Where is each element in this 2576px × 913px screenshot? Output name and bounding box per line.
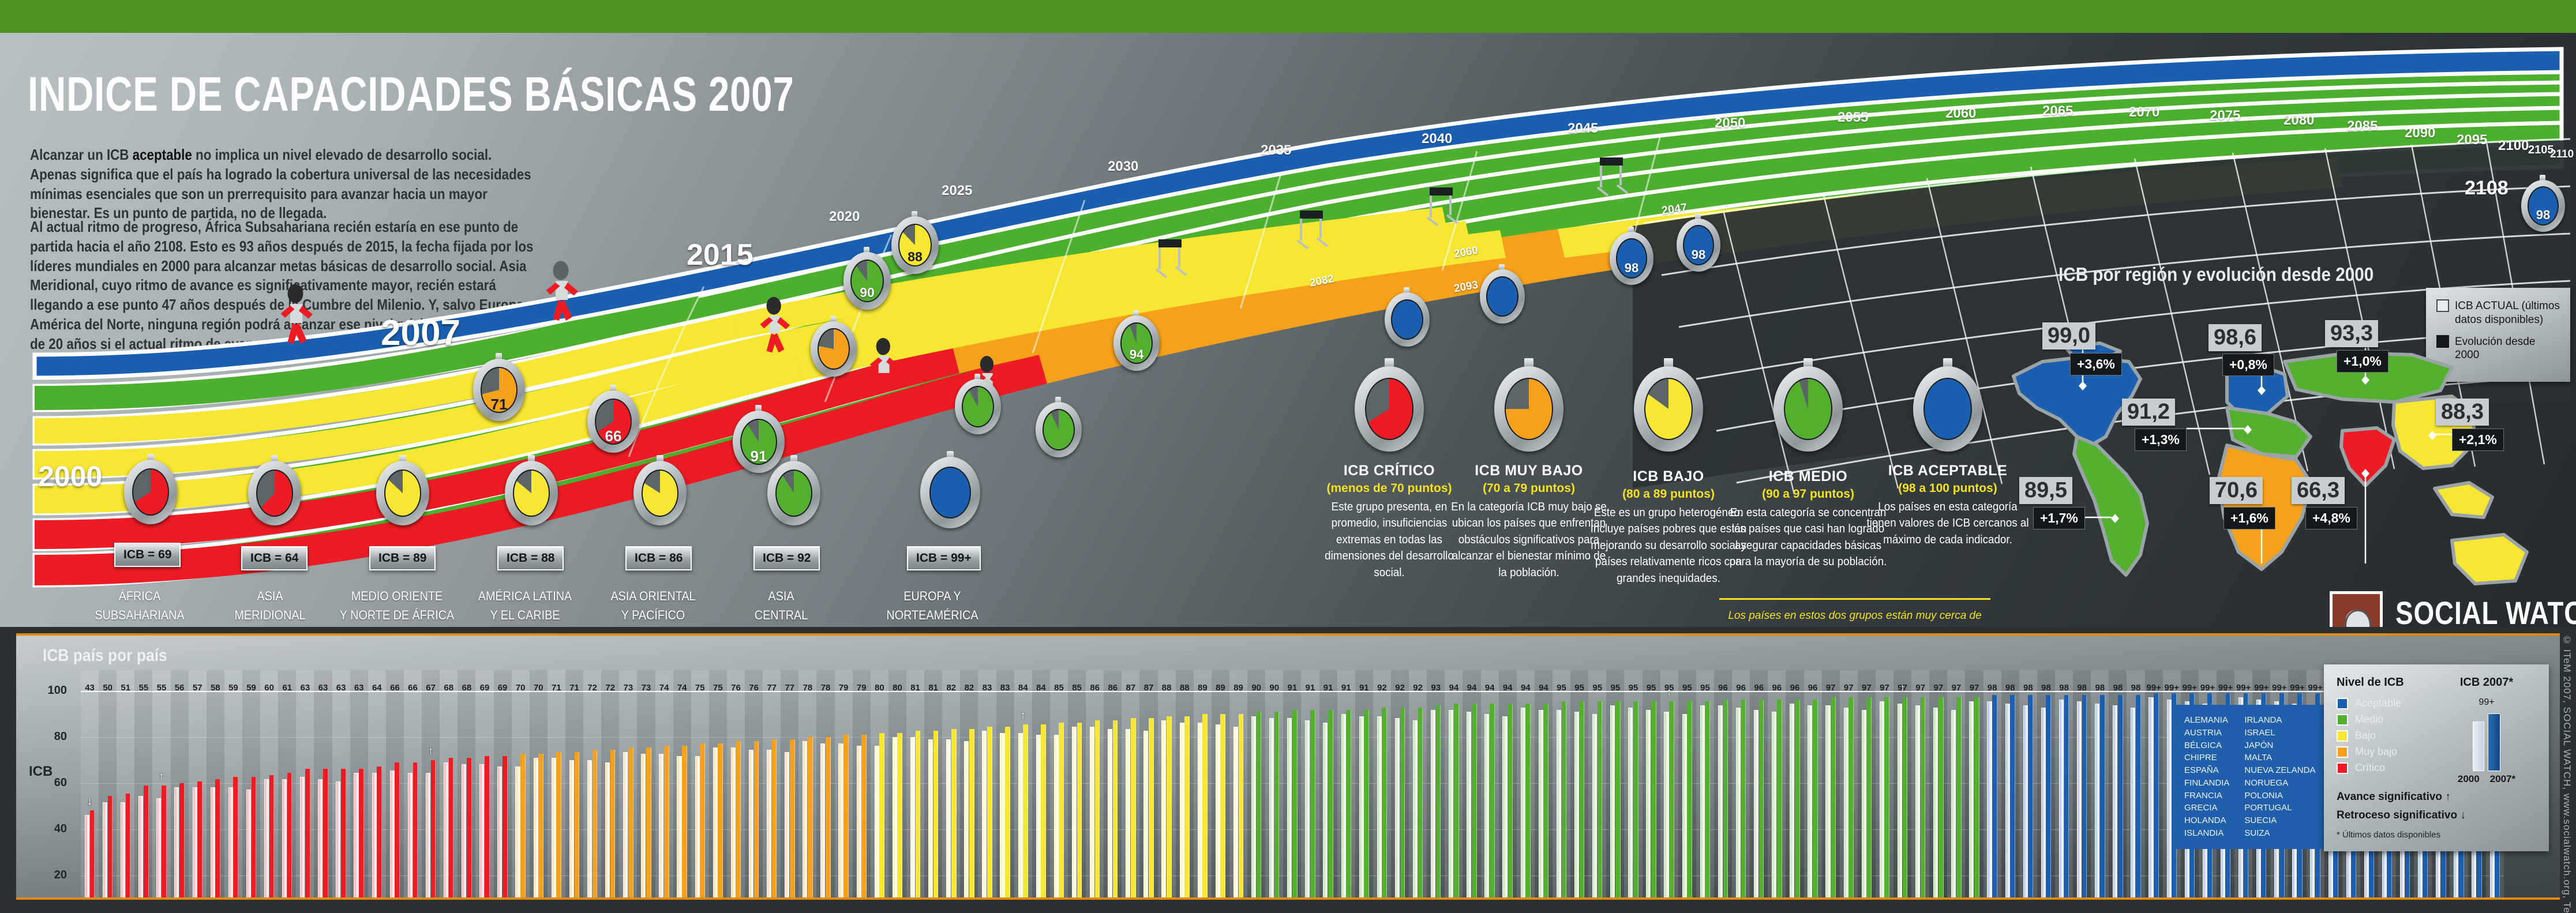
- bar-value-label: 80: [871, 683, 888, 693]
- gauge-face: [818, 328, 850, 370]
- bar-value-label: 97: [1876, 683, 1893, 693]
- bar-2007: [1633, 701, 1638, 900]
- bar-value-label: 99+: [2163, 683, 2181, 693]
- bar-group: 87: [1122, 670, 1139, 900]
- bar-value-label: 61: [278, 683, 296, 693]
- bar-group: 77: [763, 670, 781, 900]
- track-year-2090: 2090: [2405, 125, 2435, 141]
- bar-2000: [534, 758, 538, 900]
- bar-value-label: 77: [763, 683, 781, 693]
- bar-group: 82: [942, 670, 960, 900]
- bar-2007: [1903, 697, 1908, 900]
- bar-2007: [1131, 718, 1136, 900]
- map-sea-islands: [2435, 483, 2492, 517]
- bar-group: 97: [1840, 670, 1858, 900]
- country-name: SUIZA: [2244, 827, 2315, 840]
- bar-2000: [1018, 733, 1023, 900]
- bar-2007: [575, 752, 580, 900]
- gauge-track-91: 91: [733, 411, 785, 473]
- bar-2000: [731, 747, 736, 900]
- bar-value-label: 82: [942, 683, 960, 693]
- bar-2007: [2010, 695, 2015, 900]
- bar-group: 83: [996, 670, 1014, 900]
- country-name: GRECIA: [2184, 802, 2229, 814]
- track-year-2070: 2070: [2129, 104, 2159, 121]
- y-tick-80: 80: [39, 730, 67, 743]
- bar-2007: [1454, 704, 1459, 900]
- category-gauge-medio: [1773, 366, 1843, 452]
- bar-group: 95↑: [1660, 670, 1678, 900]
- bar-2000: [767, 750, 771, 900]
- bar-2000: [838, 743, 843, 900]
- bar-group: 90: [1247, 670, 1265, 900]
- gauge-value: 90: [843, 285, 891, 300]
- logo-name: SOCIAL WATCH: [2395, 594, 2576, 628]
- bar-value-label: 86: [1104, 683, 1122, 693]
- country-name: PORTUGAL: [2244, 802, 2315, 814]
- bar-value-label: 88: [1176, 683, 1194, 693]
- bar-2000: [1431, 710, 1435, 900]
- bar-2007: [179, 783, 185, 900]
- country-name: NORUEGA: [2244, 777, 2315, 790]
- legend-swatch-aceptable: [2337, 698, 2348, 709]
- bar-value-label: 67: [422, 683, 440, 693]
- bar-2007: [1364, 710, 1369, 900]
- bar-group: 61: [278, 670, 296, 900]
- bar-group: 63: [314, 670, 332, 900]
- bar-value-label: 95: [1606, 683, 1624, 693]
- bar-value-label: 95: [1678, 683, 1696, 693]
- bar-group: 98: [2109, 670, 2127, 900]
- bar-2000: [372, 773, 377, 900]
- bar-2007: [431, 760, 436, 900]
- bar-2007: [1669, 701, 1674, 900]
- bar-value-label: 98: [2091, 683, 2109, 693]
- bar-group: 74: [655, 670, 673, 900]
- bar-group: 91: [1319, 670, 1337, 900]
- bar-2007: [1095, 720, 1100, 900]
- bar-2000: [1574, 712, 1579, 900]
- bar-2000: [982, 731, 987, 900]
- country-name: CHIPRE: [2184, 752, 2229, 764]
- bar-2007: [826, 737, 831, 900]
- bar-value-label: 97: [1929, 683, 1947, 693]
- bar-2007: [1921, 697, 1926, 900]
- legend-swatch-medio: [2337, 714, 2348, 726]
- bar-group: 69: [475, 670, 493, 900]
- track-year-2035: 2035: [1261, 142, 1291, 159]
- bar-value-label: 90: [1247, 683, 1265, 693]
- gauge-track-88: 88: [891, 216, 939, 274]
- bar-2000: [785, 752, 789, 900]
- bar-value-label: 94: [1481, 683, 1499, 693]
- bar-value-label: 75: [709, 683, 727, 693]
- bar-2007: [341, 769, 346, 900]
- map-value-norteamerica: 99,0: [2042, 322, 2095, 350]
- bar-2000: [803, 741, 807, 900]
- gauge-value: 98: [2521, 208, 2565, 223]
- bar-value-label: 96: [1786, 683, 1803, 693]
- bar-2000: [1754, 710, 1758, 900]
- bar-2000: [1628, 708, 1633, 900]
- category-gauge-critico: [1355, 366, 1424, 452]
- bar-value-label: 79: [835, 683, 853, 693]
- bar-value-label: 84: [1014, 683, 1032, 693]
- bar-group: 70: [530, 670, 548, 900]
- bar-group: 85: [1068, 670, 1086, 900]
- bar-2007: [2100, 695, 2105, 900]
- track-year-2085: 2085: [2347, 118, 2378, 134]
- bar-2007: [1202, 714, 1208, 900]
- bar-group: 97: [1965, 670, 1983, 900]
- bar-group: 64: [368, 670, 386, 900]
- gauge-value: 91: [733, 448, 785, 465]
- gauge-value: 98: [1610, 261, 1653, 276]
- bar-2000: [1359, 716, 1364, 900]
- bar-value-label: 92: [1373, 683, 1391, 693]
- bar-group: 79: [835, 670, 853, 900]
- bar-value-label: 50: [99, 683, 117, 693]
- bar-value-label: 81: [906, 683, 924, 693]
- bar-2000: [300, 777, 305, 900]
- bar-group: 97: [1947, 670, 1965, 900]
- bar-value-label: 59: [242, 683, 260, 693]
- bar-2007: [1328, 710, 1333, 900]
- bar-value-label: 63: [350, 683, 368, 693]
- bar-group: 91: [1301, 670, 1319, 900]
- bar-2007: [2046, 695, 2051, 900]
- bar-2000: [623, 752, 628, 900]
- top-countries-box: ALEMANIAAUSTRIABÉLGICACHIPREESPAÑAFINLAN…: [2174, 705, 2341, 849]
- bar-value-label: 98: [2019, 683, 2037, 693]
- bar-group: 93: [1427, 670, 1445, 900]
- bar-value-label: 78: [816, 683, 834, 693]
- bar-value-label: 90: [1265, 683, 1283, 693]
- country-name: MALTA: [2244, 752, 2315, 764]
- bar-group: 87: [1139, 670, 1157, 900]
- bar-group: 95: [1678, 670, 1696, 900]
- bar-group: 98: [2127, 670, 2144, 900]
- bar-2000: [444, 762, 448, 900]
- bar-2007: [323, 769, 328, 900]
- bar-2000: [1772, 712, 1776, 900]
- bar-2000: [695, 756, 700, 900]
- bar-2007: [1687, 701, 1692, 900]
- bar-2000: [1736, 708, 1741, 900]
- bar-value-label: 99+: [2234, 683, 2252, 693]
- bar-2007: [1974, 697, 1979, 900]
- region-chip-africa-subsahariana: ICB = 69: [114, 543, 181, 567]
- bar-value-label: 99+: [2217, 683, 2234, 693]
- bar-2007: [485, 756, 490, 900]
- bottom-chart-legend: Nivel de ICB Aceptable Medio Bajo: [2324, 664, 2549, 851]
- bar-2007: [197, 782, 203, 900]
- bottom-chart-title: ICB país por país: [43, 646, 167, 666]
- bar-2007: [215, 779, 220, 900]
- bar-group: 95: [1553, 670, 1570, 900]
- bar-group: 84: [1032, 670, 1050, 900]
- bar-2000: [1467, 712, 1471, 900]
- bar-value-label: 98: [2127, 683, 2144, 693]
- bar-2000: [497, 767, 502, 900]
- bar-2000: [228, 787, 233, 900]
- bar-2007: [987, 727, 992, 900]
- bar-value-label: 72: [583, 683, 601, 693]
- track-year-2075: 2075: [2210, 108, 2240, 124]
- bar-2007: [1866, 697, 1872, 900]
- bar-2000: [1054, 735, 1059, 900]
- pocket-watch-icon: [2330, 591, 2383, 627]
- bar-2007: [1562, 701, 1567, 900]
- bar-2007: [1525, 704, 1531, 900]
- bar-group: 99+: [2145, 670, 2163, 900]
- bar-group: 75: [709, 670, 727, 900]
- bar-2007: [2118, 695, 2123, 900]
- gauge-face: [132, 468, 169, 516]
- bar-2007: [162, 786, 167, 900]
- gauge-face: [1486, 276, 1518, 317]
- legend-level-aceptable: Aceptable: [2337, 697, 2423, 709]
- bar-group: 72: [583, 670, 601, 900]
- bar-2007: [1005, 727, 1010, 900]
- bar-2000: [2059, 700, 2064, 900]
- map-region-asia-meridional: [2341, 428, 2394, 486]
- bar-2007: [933, 731, 939, 900]
- legend-swatch-bajo: [2337, 730, 2348, 742]
- bar-value-label: 91: [1337, 683, 1355, 693]
- bar-2000: [2077, 701, 2082, 900]
- bar-group: 91: [1337, 670, 1355, 900]
- gauge-track-90: 90: [843, 252, 891, 310]
- bar-value-label: 98: [1983, 683, 2001, 693]
- bar-value-label: 59: [224, 683, 242, 693]
- map-evolution-africa-subsahariana: +1,6%: [2223, 507, 2275, 529]
- track-year-2060: 2060: [1945, 106, 1976, 122]
- gauge-face: [1923, 378, 1972, 440]
- bar-2007: [503, 756, 508, 900]
- bar-2007: [646, 747, 651, 900]
- gauge-track-71: 71: [473, 359, 525, 421]
- bar-2007: [1149, 718, 1154, 900]
- bar-2007: [664, 746, 669, 900]
- bar-2007: [1615, 701, 1621, 900]
- bar-group: 98: [2001, 670, 2019, 900]
- legend-setback: Retroceso significativo ↓: [2337, 809, 2536, 822]
- bar-2007: [1543, 704, 1548, 900]
- bar-value-label: 88: [1158, 683, 1176, 693]
- bar-group: 95: [1696, 670, 1714, 900]
- top-countries-column-1: ALEMANIAAUSTRIABÉLGICACHIPREESPAÑAFINLAN…: [2184, 714, 2229, 840]
- bar-2000: [193, 787, 197, 900]
- bar-group: 67↑: [422, 670, 440, 900]
- bar-value-label: 97: [1840, 683, 1858, 693]
- bar-2000: [462, 764, 466, 900]
- map-value-europa: 98,6: [2208, 324, 2262, 351]
- bar-2000: [174, 787, 179, 900]
- bar-2000: [928, 739, 933, 900]
- bar-group: 98: [2091, 670, 2109, 900]
- bar-2000: [1251, 716, 1256, 900]
- bar-2000: [2095, 704, 2099, 900]
- bar-value-label: 97: [1858, 683, 1876, 693]
- bar-2000: [138, 796, 143, 900]
- bar-group: 96: [1768, 670, 1786, 900]
- bar-2007: [1884, 697, 1889, 900]
- bar-group: 95: [1588, 670, 1606, 900]
- bar-group: 71: [565, 670, 583, 900]
- legend-level-muy-bajo: Muy bajo: [2337, 746, 2423, 758]
- bar-2007: [2154, 693, 2159, 900]
- bar-value-label: 71: [565, 683, 583, 693]
- top-accent-bar: [0, 0, 2576, 33]
- bar-2000: [1646, 710, 1651, 900]
- track-year-2055: 2055: [1838, 110, 1868, 126]
- bar-2007: [1220, 714, 1225, 900]
- bar-value-label: 96: [1732, 683, 1750, 693]
- region-label-line2: CENTRAL: [703, 606, 859, 625]
- bar-2000: [1161, 720, 1166, 900]
- bar-group: 98: [2055, 670, 2073, 900]
- legend-swatch-muy-bajo: [2337, 746, 2348, 758]
- bar-2007: [808, 737, 813, 900]
- bar-group: 98: [2073, 670, 2091, 900]
- bar-group: 66: [386, 670, 404, 900]
- map-evolution-asia-meridional: +4,8%: [2305, 507, 2357, 529]
- gauge-track-98-b: [1385, 292, 1430, 347]
- bar-2000: [1987, 701, 1992, 900]
- bar-2007: [413, 762, 418, 900]
- track-year-2020: 2020: [829, 209, 860, 225]
- bar-group: 68: [458, 670, 475, 900]
- gauge-track-extra-1: [811, 321, 857, 377]
- gauge-track-98-d: 98: [1677, 219, 1720, 272]
- bar-2000: [1395, 718, 1400, 900]
- bar-value-label: 95: [1643, 683, 1660, 693]
- gauge-track-extra-2: [955, 379, 1001, 434]
- bar-group: 88: [1158, 670, 1176, 900]
- bar-group: 98: [2019, 670, 2037, 900]
- gauge-face: [1505, 378, 1553, 440]
- bar-2000: [1143, 731, 1148, 900]
- legend-swatch-critico: [2337, 762, 2348, 774]
- category-gauge-muy-bajo: [1494, 366, 1563, 452]
- bar-value-label: 81: [924, 683, 942, 693]
- legend-label-critico: Crítico: [2355, 762, 2385, 774]
- region-label-line1: EUROPA Y: [854, 587, 1010, 606]
- bar-2000: [820, 743, 825, 900]
- bar-group: 97: [1822, 670, 1840, 900]
- bar-group: 97: [1876, 670, 1893, 900]
- bar-2000: [1180, 723, 1184, 900]
- bar-2000: [552, 758, 556, 900]
- bar-2007: [1580, 701, 1585, 900]
- bar-group: 69: [494, 670, 512, 900]
- bar-value-label: 70: [530, 683, 548, 693]
- bar-group: 97: [1858, 670, 1876, 900]
- bar-value-label: 99+: [2307, 683, 2324, 693]
- bar-2000: [1844, 708, 1848, 900]
- gauge-track-98-a: [1480, 269, 1525, 324]
- bar-2007: [1651, 701, 1656, 900]
- bar-2000: [1413, 720, 1418, 900]
- bar-2000: [211, 787, 215, 900]
- bar-2007: [1167, 716, 1172, 900]
- map-value-medio-oriente: 91,2: [2122, 399, 2175, 426]
- bar-2007: [1310, 710, 1315, 900]
- country-name: BÉLGICA: [2184, 739, 2229, 752]
- bar-value-label: 99+: [2181, 683, 2199, 693]
- bar-value-label: 91: [1319, 683, 1337, 693]
- bar-value-label: 97: [1947, 683, 1965, 693]
- bar-group: 74: [673, 670, 691, 900]
- gauge-2000-medio-oriente: [376, 461, 429, 525]
- bar-value-label: 99+: [2288, 683, 2306, 693]
- bar-2007: [1598, 701, 1603, 900]
- bar-group: 68: [440, 670, 458, 900]
- bar-2007: [269, 775, 275, 900]
- track-year-2110: 2110: [2550, 148, 2574, 161]
- bar-2000: [318, 779, 323, 900]
- gauge-face: [1784, 378, 1832, 440]
- bar-value-label: 76: [727, 683, 745, 693]
- bar-value-label: 77: [781, 683, 798, 693]
- bar-value-label: 64: [368, 683, 386, 693]
- bar-2007: [2028, 695, 2033, 900]
- bar-value-label: 98: [2055, 683, 2073, 693]
- bar-value-label: 94: [1499, 683, 1517, 693]
- gauge-track-66: 66: [587, 390, 639, 453]
- bar-2007: [1257, 712, 1262, 900]
- bar-2000: [1216, 724, 1220, 900]
- bar-2000: [1610, 705, 1615, 900]
- track-big-year-2015: 2015: [687, 238, 753, 272]
- bar-value-label: 83: [978, 683, 996, 693]
- bar-group: 91: [1355, 670, 1373, 900]
- bar-2007: [593, 750, 598, 900]
- region-chip-medio-oriente: ICB = 89: [369, 546, 436, 570]
- bar-2000: [1557, 710, 1561, 900]
- bar-2007: [2136, 695, 2141, 900]
- gauge-2000-africa: [124, 460, 177, 524]
- legend-bar-2000: [2473, 722, 2484, 771]
- bar-2000: [264, 779, 269, 900]
- bar-2007: [772, 739, 777, 900]
- bar-2007: [1400, 708, 1405, 900]
- legend-footnote: * Últimos datos disponibles: [2337, 830, 2536, 840]
- bar-group: 86: [1086, 670, 1104, 900]
- bar-value-label: 95: [1570, 683, 1588, 693]
- bar-group: 85: [1050, 670, 1068, 900]
- bar-2007: [861, 735, 867, 900]
- bar-2007: [395, 762, 400, 900]
- bar-group: 57: [189, 670, 207, 900]
- legend-bar-value: 99+: [2437, 697, 2536, 708]
- bar-value-label: 55: [134, 683, 152, 693]
- bar-group: 82: [960, 670, 978, 900]
- bar-value-label: 55: [152, 683, 170, 693]
- advance-arrow-icon: ↑: [428, 745, 434, 758]
- bar-2000: [1700, 705, 1705, 900]
- bar-2000: [1808, 705, 1812, 900]
- infographic-poster: INDICE DE CAPACIDADES BÁSICAS 2007 Alcan…: [0, 0, 2576, 913]
- bar-group: 95: [1643, 670, 1660, 900]
- bar-group: 75: [691, 670, 709, 900]
- bar-2007: [556, 752, 561, 900]
- bar-2000: [1341, 714, 1346, 900]
- bar-value-label: 51: [117, 683, 134, 693]
- bar-2007: [252, 777, 257, 900]
- bar-2007: [126, 794, 131, 900]
